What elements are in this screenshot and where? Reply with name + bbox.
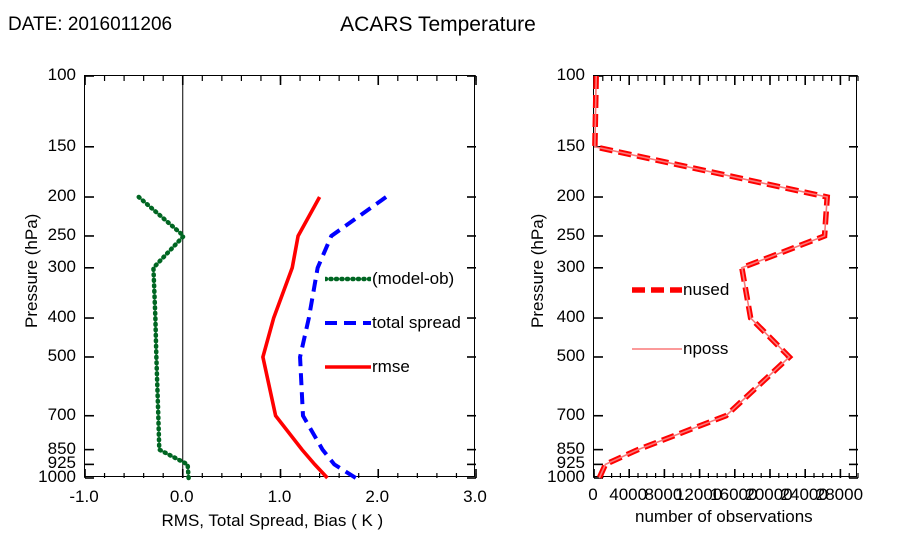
series-rmse (263, 197, 328, 478)
series--model-ob- (139, 197, 189, 478)
legend-label: nposs (683, 339, 728, 359)
page-title: ACARS Temperature (0, 13, 900, 37)
legend-swatch (632, 342, 682, 356)
y-tick-label: 500 (527, 346, 585, 366)
legend-swatch (325, 360, 371, 374)
legend-swatch (325, 272, 371, 286)
x-tick-label: 4000 (609, 485, 647, 505)
y-tick-label: 700 (527, 405, 585, 425)
left-x-axis-title: RMS, Total Spread, Bias ( K ) (162, 511, 384, 531)
legend-label: total spread (372, 313, 461, 333)
legend-label: nused (683, 280, 729, 300)
y-tick-label: 100 (18, 65, 76, 85)
right-plot-panel (593, 75, 857, 477)
y-tick-label: 150 (527, 136, 585, 156)
right-plot-canvas (594, 76, 858, 478)
x-tick-label: 2.0 (365, 487, 389, 507)
y-tick-label: 200 (527, 186, 585, 206)
x-tick-label: 3.0 (463, 487, 487, 507)
right-x-axis-title: number of observations (635, 507, 813, 527)
legend-label: (model-ob) (372, 269, 454, 289)
x-tick-label: 1.0 (268, 487, 292, 507)
x-tick-label: 0.0 (170, 487, 194, 507)
y-tick-label: 100 (527, 65, 585, 85)
left-y-axis-title: Pressure (hPa) (22, 214, 42, 328)
series-total-spread (300, 197, 386, 478)
x-tick-label: 0 (588, 485, 597, 505)
legend-swatch (632, 283, 682, 297)
x-tick-label: -1.0 (69, 487, 98, 507)
y-tick-label: 500 (18, 346, 76, 366)
series-nused (595, 76, 827, 478)
y-tick-label: 1000 (527, 467, 585, 487)
y-tick-label: 150 (18, 136, 76, 156)
y-tick-label: 1000 (18, 467, 76, 487)
y-tick-label: 200 (18, 186, 76, 206)
legend-label: rmse (372, 357, 410, 377)
right-y-axis-title: Pressure (hPa) (528, 214, 548, 328)
legend-swatch (325, 316, 371, 330)
x-tick-label: 28000 (816, 485, 863, 505)
y-tick-label: 700 (18, 405, 76, 425)
series-nposs (595, 76, 827, 478)
